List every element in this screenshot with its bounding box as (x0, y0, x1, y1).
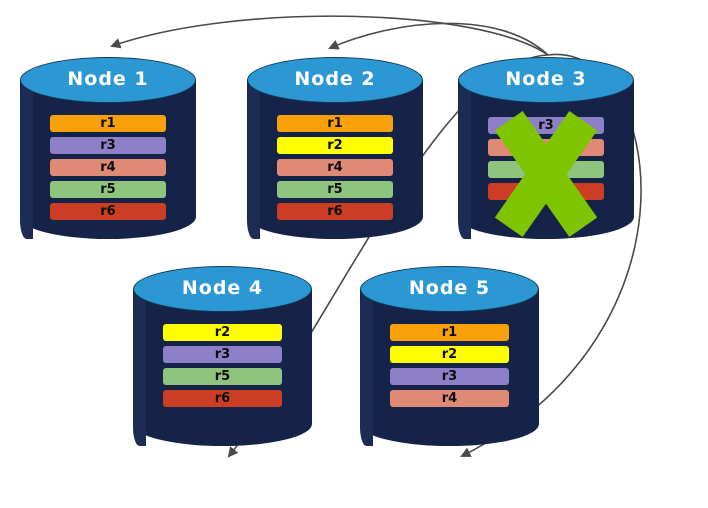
replica-row[interactable] (488, 139, 604, 156)
replica-row[interactable]: r5 (277, 181, 393, 198)
replica-label: r2 (390, 346, 509, 363)
replica-row[interactable]: r4 (50, 159, 166, 176)
replica-label: r3 (50, 137, 166, 154)
replica-row[interactable]: r2 (277, 137, 393, 154)
replica-label: r6 (50, 203, 166, 220)
replica-label: r5 (277, 181, 393, 198)
replica-list: r1r3r4r5r6 (20, 115, 196, 225)
replica-label: r2 (277, 137, 393, 154)
replica-label: r4 (390, 390, 509, 407)
edge-node3-to-node2 (330, 23, 548, 55)
replica-row[interactable]: r1 (50, 115, 166, 132)
replica-row[interactable] (488, 161, 604, 178)
replica-list: r1r2r4r5r6 (247, 115, 423, 225)
replica-label: r3 (163, 346, 282, 363)
replica-label: r1 (50, 115, 166, 132)
replica-label: r1 (277, 115, 393, 132)
replica-label (488, 183, 604, 200)
node-1[interactable]: Node 1r1r3r4r5r6 (20, 57, 196, 239)
replica-row[interactable]: r2 (163, 324, 282, 341)
node-4[interactable]: Node 4r2r3r5r6 (133, 266, 312, 446)
node-2[interactable]: Node 2r1r2r4r5r6 (247, 57, 423, 239)
diagram-canvas: Node 1r1r3r4r5r6Node 2r1r2r4r5r6Node 3r3… (0, 0, 708, 508)
replica-row[interactable]: r3 (488, 117, 604, 134)
node-label: Node 4 (133, 277, 312, 299)
replica-label (488, 161, 604, 178)
replica-row[interactable]: r5 (50, 181, 166, 198)
replica-row[interactable]: r2 (390, 346, 509, 363)
node-label: Node 1 (20, 68, 196, 90)
replica-row[interactable]: r3 (50, 137, 166, 154)
replica-row[interactable]: r4 (277, 159, 393, 176)
edge-node3-to-node1 (112, 16, 548, 55)
replica-label: r1 (390, 324, 509, 341)
replica-row[interactable] (488, 183, 604, 200)
replica-label (488, 139, 604, 156)
replica-label: r5 (50, 181, 166, 198)
replica-label: r6 (277, 203, 393, 220)
replica-label: r2 (163, 324, 282, 341)
replica-label: r4 (277, 159, 393, 176)
node-3[interactable]: Node 3r3 (458, 57, 634, 239)
replica-row[interactable]: r4 (390, 390, 509, 407)
replica-label: r4 (50, 159, 166, 176)
replica-row[interactable]: r3 (163, 346, 282, 363)
replica-list: r1r2r3r4 (360, 324, 539, 412)
replica-row[interactable]: r1 (390, 324, 509, 341)
replica-list: r3 (458, 117, 634, 205)
node-label: Node 5 (360, 277, 539, 299)
replica-row[interactable]: r6 (163, 390, 282, 407)
replica-label: r3 (488, 117, 604, 134)
replica-row[interactable]: r6 (50, 203, 166, 220)
replica-row[interactable]: r6 (277, 203, 393, 220)
node-5[interactable]: Node 5r1r2r3r4 (360, 266, 539, 446)
replica-row[interactable]: r5 (163, 368, 282, 385)
node-label: Node 3 (458, 68, 634, 90)
replica-list: r2r3r5r6 (133, 324, 312, 412)
replica-label: r6 (163, 390, 282, 407)
replica-label: r3 (390, 368, 509, 385)
node-label: Node 2 (247, 68, 423, 90)
replica-row[interactable]: r3 (390, 368, 509, 385)
replica-label: r5 (163, 368, 282, 385)
replica-row[interactable]: r1 (277, 115, 393, 132)
